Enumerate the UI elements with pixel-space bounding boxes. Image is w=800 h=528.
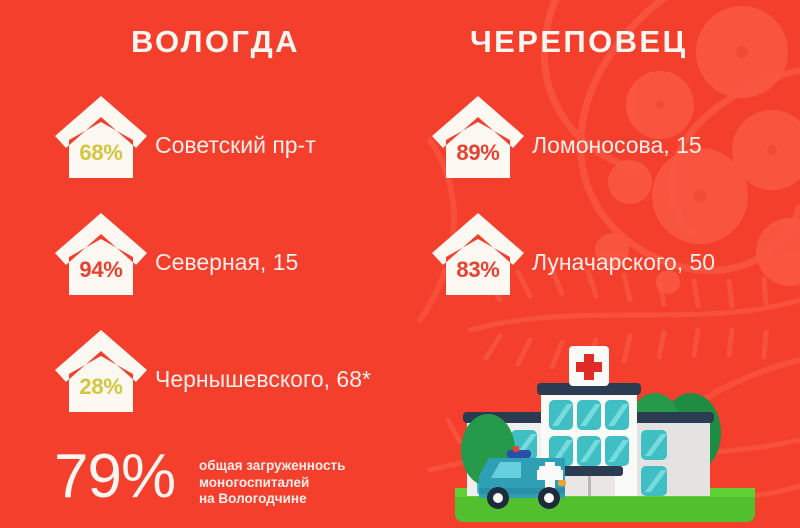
column-heading-vologda: ВОЛОГДА (131, 24, 300, 60)
facility-address: Луначарского, 50 (532, 249, 715, 276)
facility-address: Чернышевского, 68* (155, 366, 371, 393)
facility-address: Северная, 15 (155, 249, 298, 276)
summary-caption: общая загруженность моногоспиталей на Во… (199, 458, 345, 508)
house-icon: 94% (55, 213, 147, 299)
house-icon: 68% (55, 96, 147, 182)
house-percent: 83% (432, 257, 524, 283)
house-icon: 89% (432, 96, 524, 182)
summary-percent: 79% (54, 446, 175, 508)
hospital-illustration (445, 338, 800, 528)
facility-address: Советский пр-т (155, 132, 316, 159)
house-icon: 83% (432, 213, 524, 299)
summary-caption-line-1: общая загруженность (199, 458, 345, 475)
house-percent: 89% (432, 140, 524, 166)
house-percent: 94% (55, 257, 147, 283)
summary-caption-line-3: на Вологодчине (199, 491, 345, 508)
facility-address: Ломоносова, 15 (532, 132, 702, 159)
house-percent: 68% (55, 140, 147, 166)
column-heading-cherepovets: ЧЕРЕПОВЕЦ (470, 24, 688, 60)
house-percent: 28% (55, 374, 147, 400)
house-icon: 28% (55, 330, 147, 416)
summary-caption-line-2: моногоспиталей (199, 475, 345, 492)
